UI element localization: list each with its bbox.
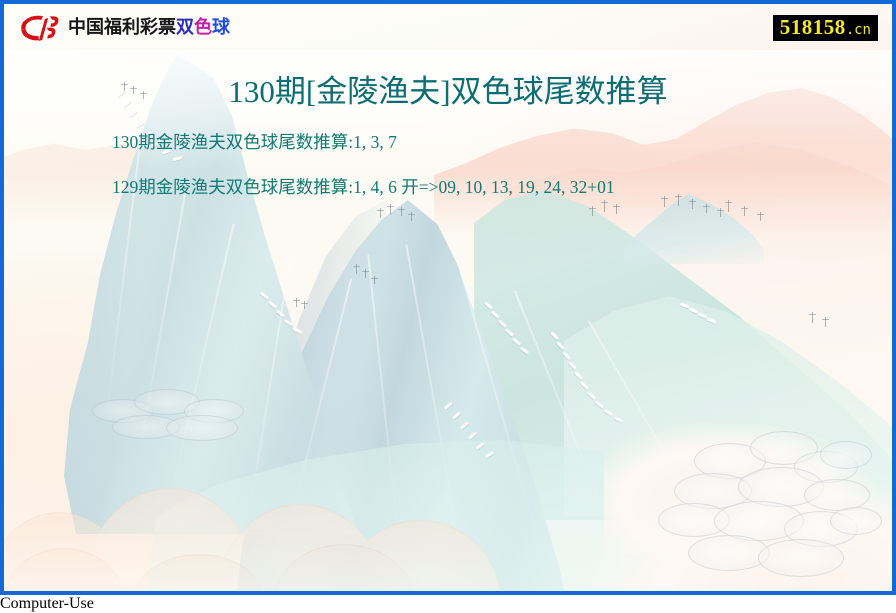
page-title: 130期[金陵渔夫]双色球尾数推算: [4, 66, 892, 111]
main-content: 130期[金陵渔夫]双色球尾数推算 130期金陵渔夫双色球尾数推算:1, 3, …: [4, 4, 892, 591]
prediction-line: 129期金陵渔夫双色球尾数推算:1, 4, 6 开=>09, 10, 13, 1…: [112, 179, 852, 197]
page-root: 中国福利彩票双色球 518158.cn 130期[金陵渔夫]双色球尾数推算 13…: [0, 0, 896, 595]
prediction-line: 130期金陵渔夫双色球尾数推算:1, 3, 7: [112, 134, 852, 152]
prediction-list: 130期金陵渔夫双色球尾数推算:1, 3, 7 129期金陵渔夫双色球尾数推算:…: [112, 134, 852, 223]
